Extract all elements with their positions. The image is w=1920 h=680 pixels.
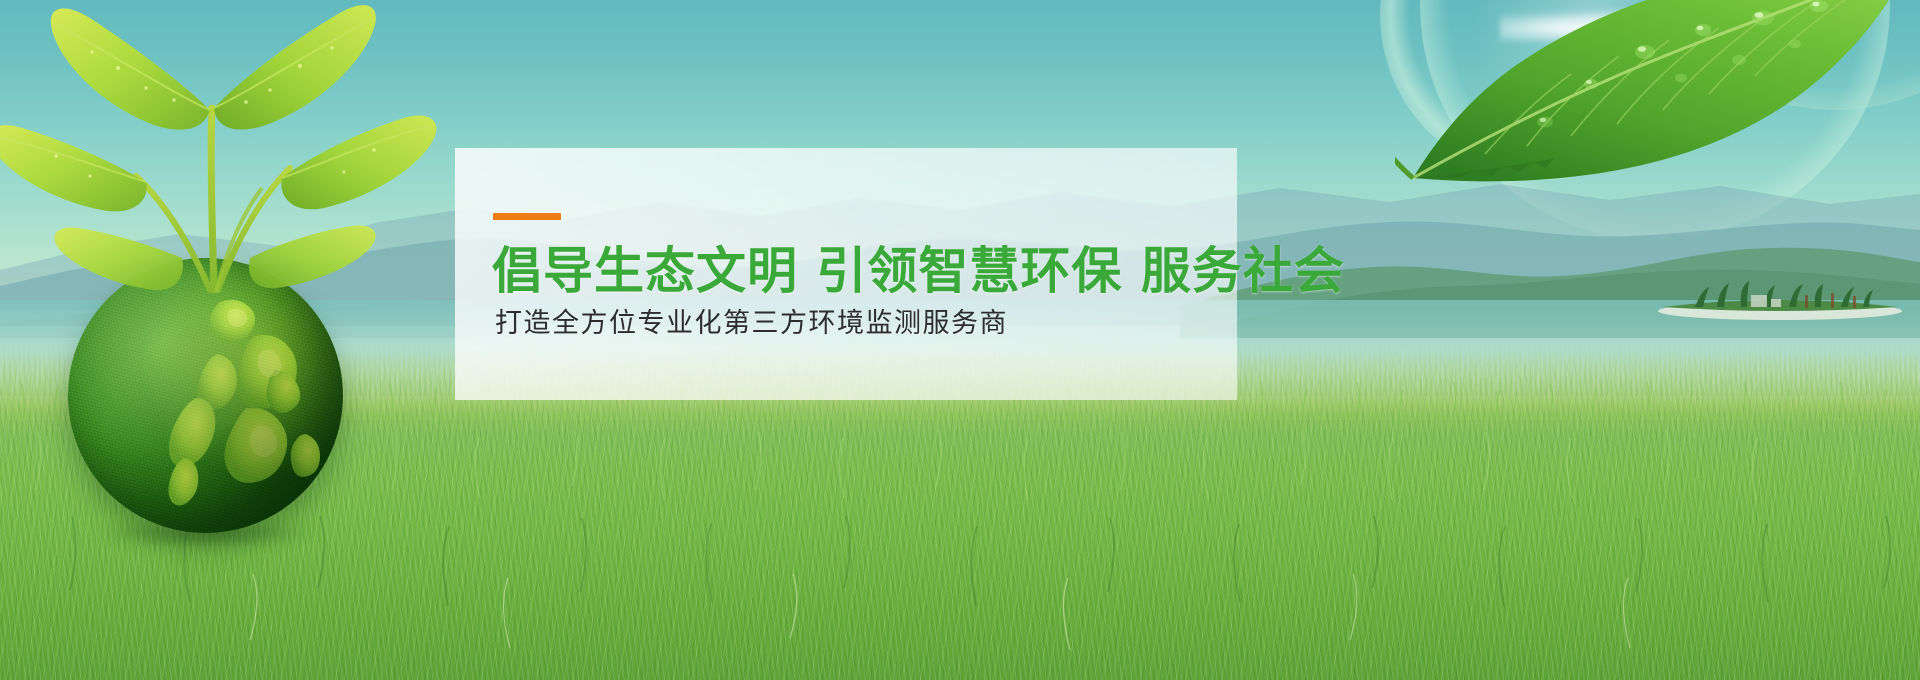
island-with-palms bbox=[1655, 265, 1905, 325]
sprout-seedling-icon bbox=[0, 0, 480, 320]
headline-text: 倡导生态文明 引领智慧环保 服务社会 bbox=[492, 243, 1345, 299]
subheadline-text: 打造全方位专业化第三方环境监测服务商 bbox=[495, 308, 1008, 340]
dewy-leaf-icon bbox=[1395, 0, 1915, 182]
accent-dash bbox=[493, 213, 561, 220]
eco-hero-banner: 倡导生态文明 引领智慧环保 服务社会 打造全方位专业化第三方环境监测服务商 bbox=[0, 0, 1920, 680]
